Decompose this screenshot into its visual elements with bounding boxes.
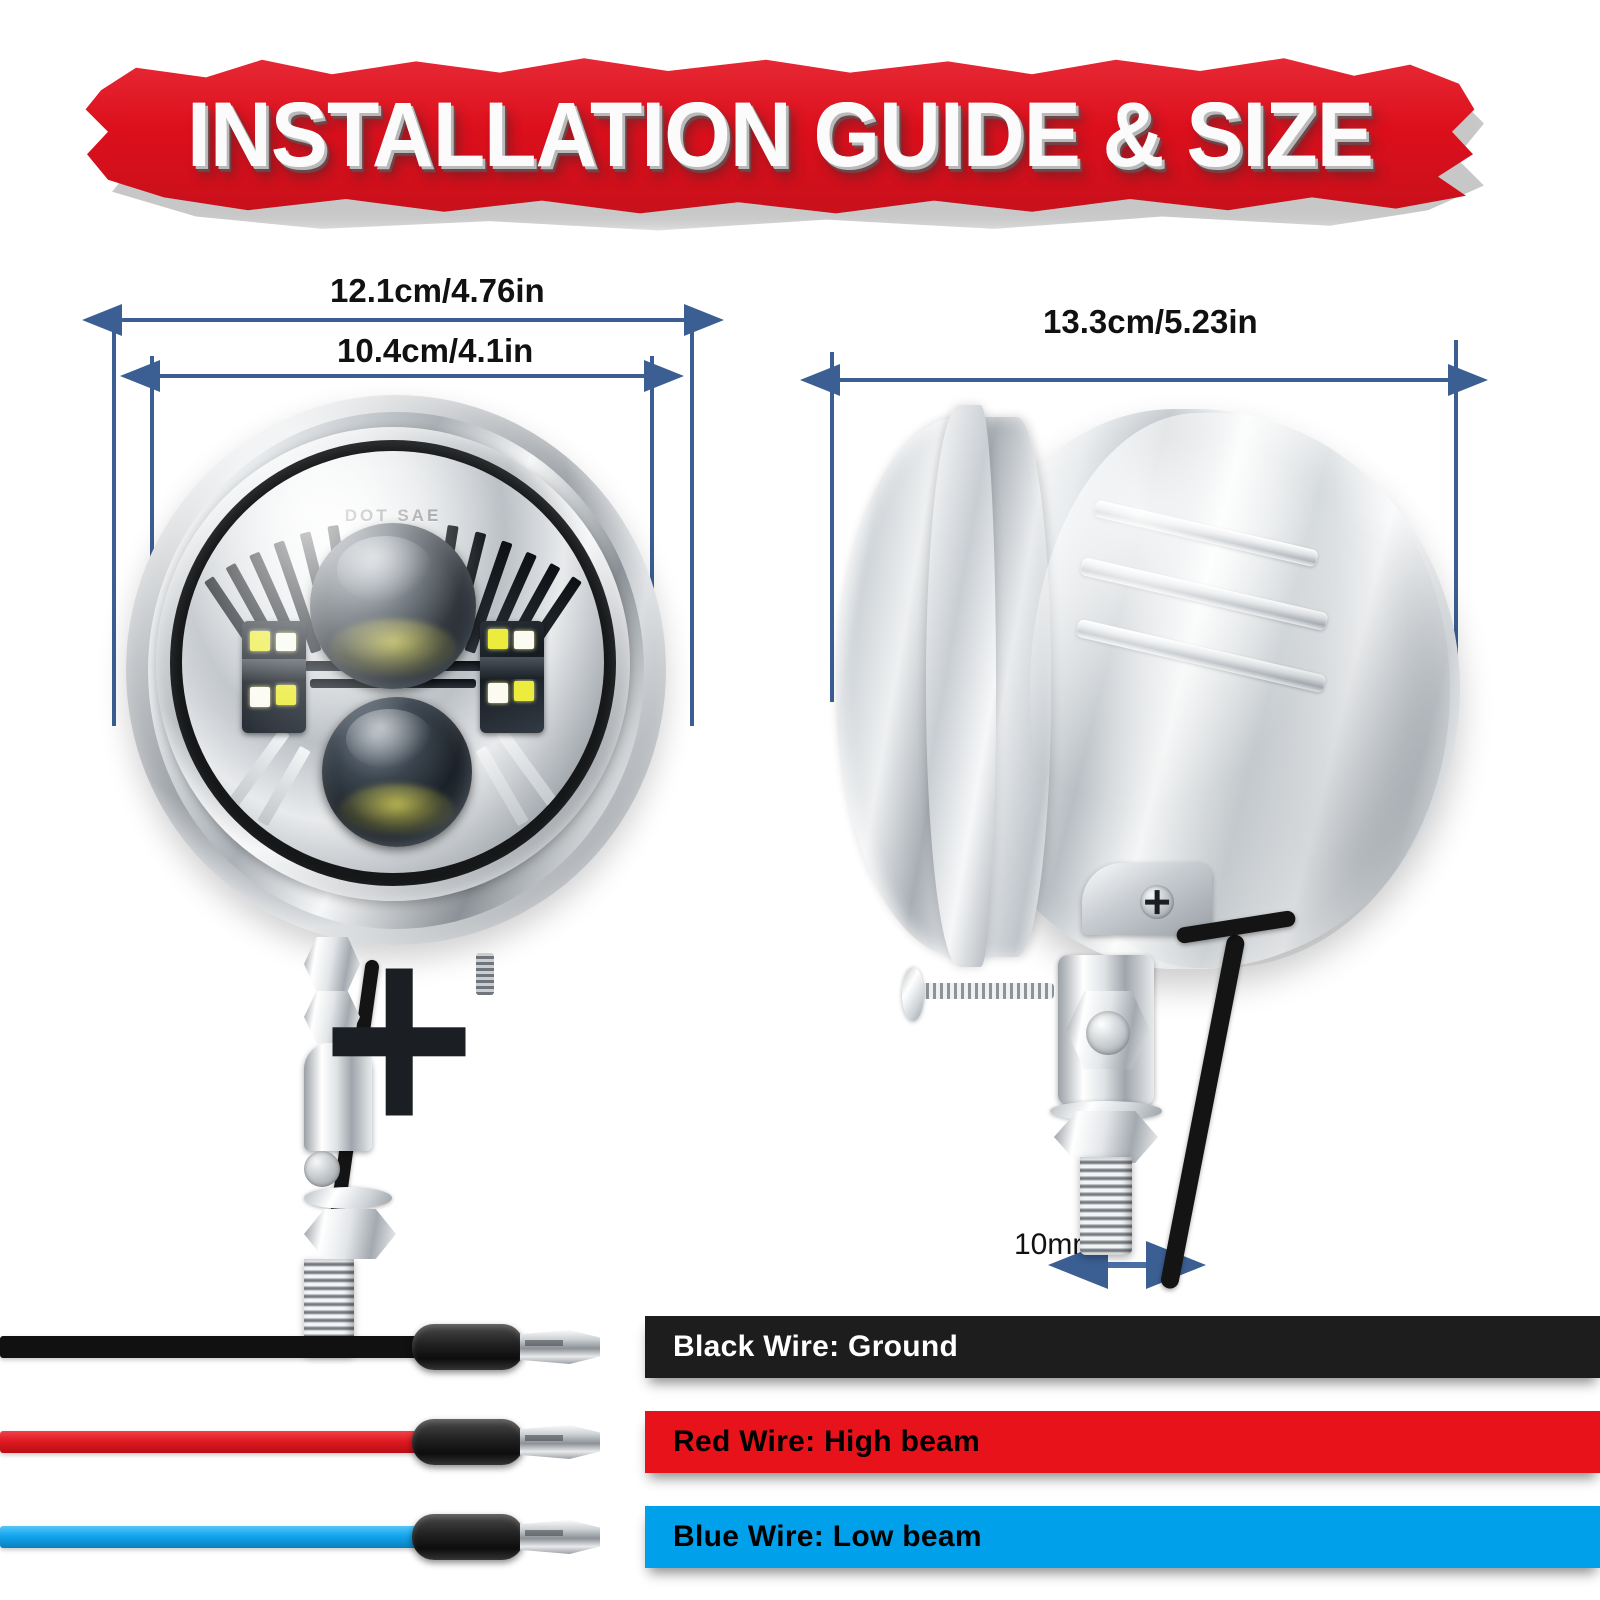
- threaded-bolt-side: [1080, 1157, 1132, 1255]
- spring-washer: [476, 953, 494, 995]
- title-banner: INSTALLATION GUIDE & SIZE: [80, 55, 1530, 240]
- wire-label-text-blue: Blue Wire: Low beam: [673, 1520, 982, 1554]
- wire-label-text-black: Black Wire: Ground: [673, 1330, 958, 1364]
- infographic-canvas: INSTALLATION GUIDE & SIZE: [0, 0, 1600, 1600]
- projector-lens-upper: [310, 523, 476, 689]
- mounting-bracket-front: [304, 937, 494, 1147]
- hex-nut-side-main: [1054, 1111, 1158, 1163]
- hex-nut-main: [304, 1209, 396, 1259]
- wire-row-blue: Blue Wire: Low beam: [0, 1510, 1600, 1590]
- dimension-label-front-inner: 10.4cm/4.1in: [337, 332, 533, 370]
- wire-connector-tip-black: [520, 1330, 600, 1364]
- phillips-screw-side: [1140, 885, 1174, 919]
- wire-label-bar-blue: Blue Wire: Low beam: [645, 1506, 1600, 1568]
- projector-lens-lower: [322, 697, 472, 847]
- lens-assembly: DOT SAE: [182, 451, 604, 873]
- page-title: INSTALLATION GUIDE & SIZE: [129, 55, 1431, 215]
- wire-label-bar-black: Black Wire: Ground: [645, 1316, 1600, 1378]
- side-power-cable: [1159, 933, 1245, 1290]
- wire-boot-blue: [412, 1514, 524, 1560]
- wire-label-text-red: Red Wire: High beam: [673, 1425, 980, 1459]
- wire-row-red: Red Wire: High beam: [0, 1415, 1600, 1495]
- flat-washer-side: [902, 967, 924, 1021]
- phillips-screw: [304, 1151, 340, 1187]
- pivot-bolt-head: [1086, 1011, 1130, 1055]
- wire-boot-red: [412, 1419, 524, 1465]
- led-headlight-front-view: DOT SAE: [108, 385, 678, 965]
- wire-connector-tip-blue: [520, 1520, 600, 1554]
- wire-boot-black: [412, 1324, 524, 1370]
- dimension-label-front-outer: 12.1cm/4.76in: [330, 272, 545, 310]
- wire-cable-blue: [0, 1526, 430, 1548]
- bracket-stem: [304, 1043, 372, 1151]
- dimension-label-side-depth: 13.3cm/5.23in: [1043, 303, 1258, 341]
- led-module-left: [242, 621, 306, 733]
- hex-nut-left: [304, 937, 360, 991]
- housing-bezel-edge: [926, 405, 996, 967]
- led-headlight-side-view: [830, 395, 1470, 1015]
- wire-label-bar-red: Red Wire: High beam: [645, 1411, 1600, 1473]
- wire-connector-tip-red: [520, 1425, 600, 1459]
- wire-row-black: Black Wire: Ground: [0, 1320, 1600, 1400]
- wire-cable-black: [0, 1336, 430, 1358]
- adjuster-bolt-side: [908, 983, 1054, 999]
- wire-cable-red: [0, 1431, 430, 1453]
- dot-sae-marking: DOT SAE: [345, 506, 442, 526]
- led-module-right: [480, 621, 544, 733]
- flat-washer: [304, 1187, 392, 1209]
